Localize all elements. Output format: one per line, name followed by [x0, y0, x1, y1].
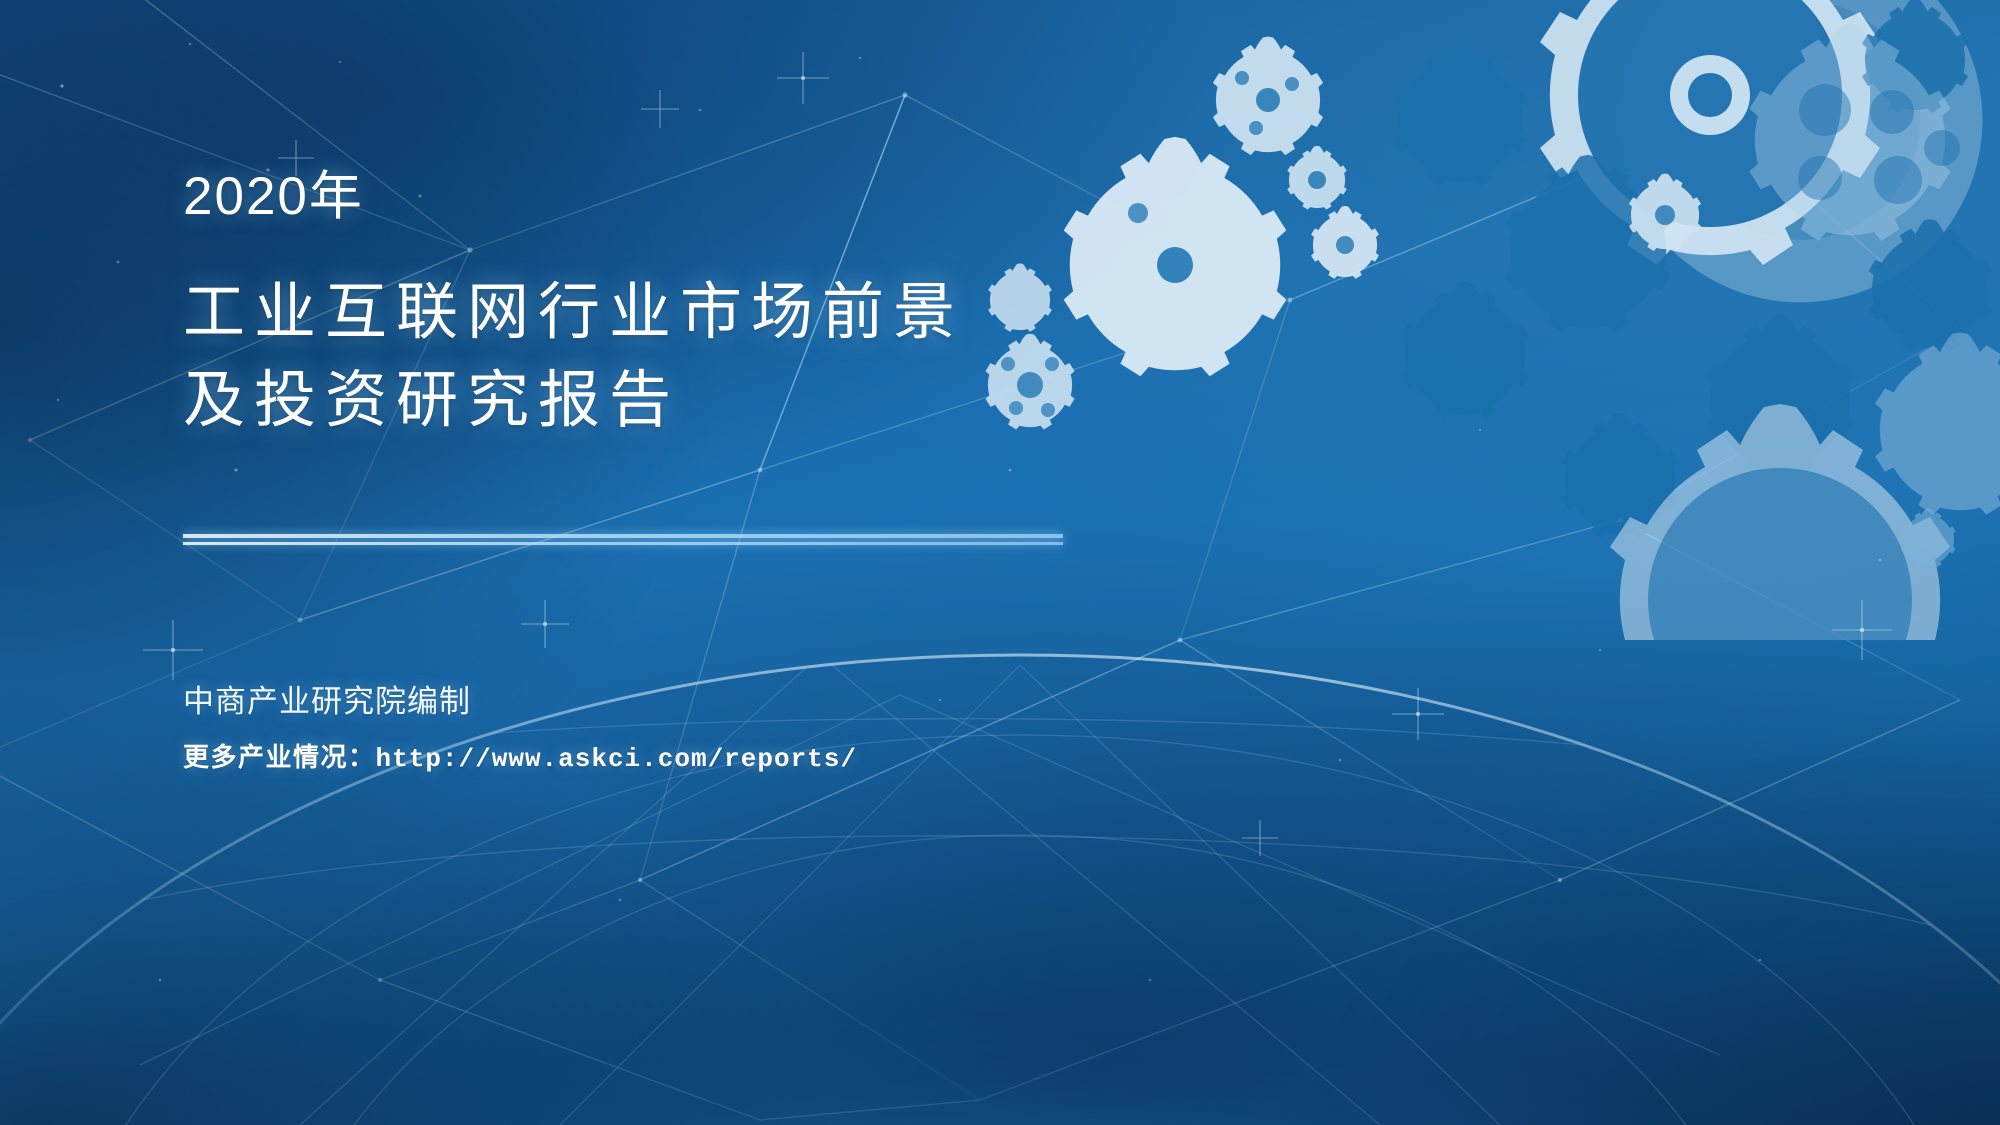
- year-label: 2020年: [183, 170, 1183, 223]
- title-line-2: 及投资研究报告: [183, 366, 680, 435]
- presentation-slide: 2020年 工业互联网行业市场前景 及投资研究报告 中商产业研究院编制 更多产业…: [0, 0, 2000, 1125]
- title-divider: [183, 534, 1063, 546]
- organization-label: 中商产业研究院编制: [183, 683, 1283, 720]
- page-title: 工业互联网行业市场前景 及投资研究报告: [183, 269, 1088, 445]
- title-line-1: 工业互联网行业市场前景: [183, 278, 964, 347]
- report-url-link[interactable]: http://www.askci.com/reports/: [376, 744, 857, 774]
- divider-bar-upper: [183, 534, 1063, 538]
- more-info-label: 更多产业情况：: [183, 742, 376, 772]
- divider-bar-lower: [183, 542, 1063, 545]
- footer-block: 中商产业研究院编制 更多产业情况：http://www.askci.com/re…: [183, 683, 1283, 775]
- more-info-line: 更多产业情况：http://www.askci.com/reports/: [183, 742, 1283, 775]
- title-block: 2020年 工业互联网行业市场前景 及投资研究报告: [183, 170, 1183, 445]
